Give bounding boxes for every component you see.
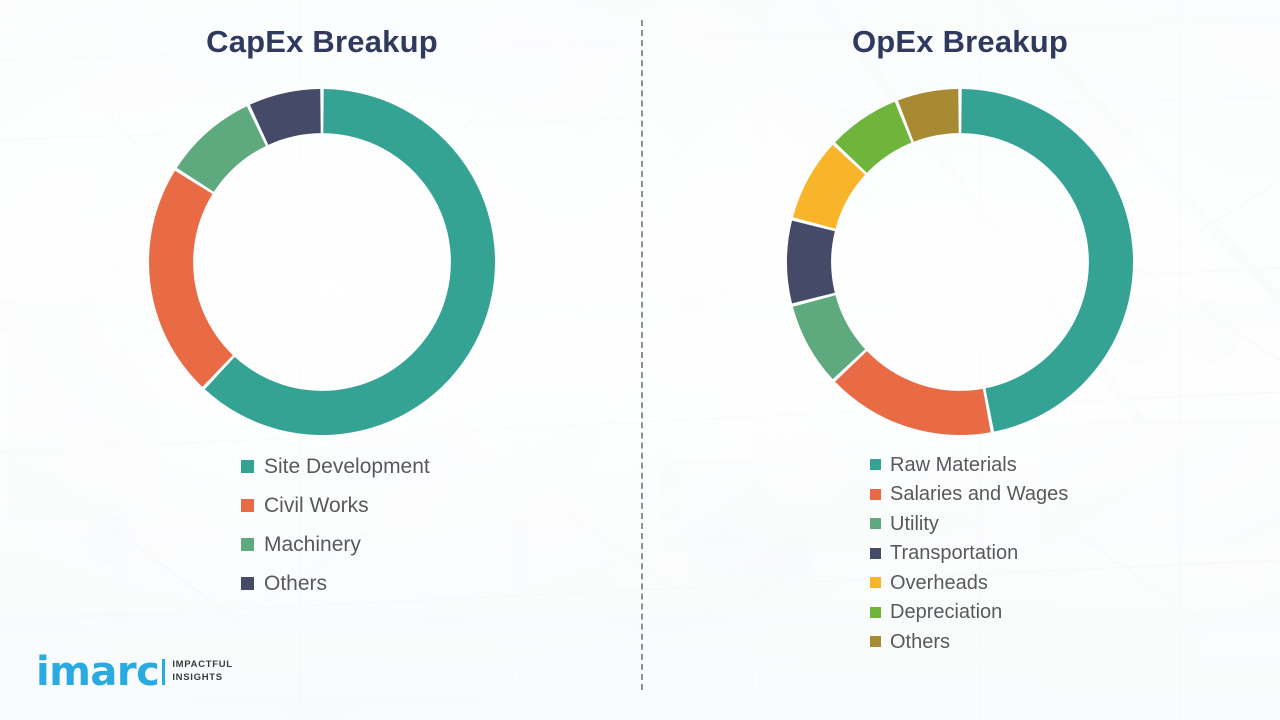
legend-item[interactable]: Machinery [241, 525, 430, 564]
legend-item[interactable]: Overheads [870, 568, 1068, 598]
capex-legend: Site Development Civil Works Machinery O… [241, 447, 430, 603]
legend-label-machinery: Machinery [264, 534, 361, 555]
logo-wordmark: imarc [36, 652, 159, 692]
opex-donut-svg [785, 87, 1135, 437]
legend-item[interactable]: Others [241, 564, 430, 603]
legend-item[interactable]: Utility [870, 509, 1068, 539]
opex-donut-chart [785, 87, 1135, 437]
legend-swatch-others [241, 577, 254, 590]
capex-donut-chart [147, 87, 497, 437]
legend-item[interactable]: Salaries and Wages [870, 480, 1068, 510]
legend-swatch-salaries-and-wages [870, 489, 881, 500]
legend-label-raw-materials: Raw Materials [890, 455, 1017, 475]
legend-item[interactable]: Raw Materials [870, 450, 1068, 480]
legend-item[interactable]: Others [870, 627, 1068, 657]
legend-label-site-development: Site Development [264, 456, 430, 477]
donut-slice[interactable] [961, 89, 1133, 432]
capex-panel: CapEx Breakup Site Development Civil Wor… [0, 0, 640, 720]
logo-tagline: IMPACTFUL INSIGHTS [172, 659, 232, 685]
donut-slice[interactable] [787, 221, 835, 304]
legend-label-overheads: Overheads [890, 573, 988, 593]
legend-label-depreciation: Depreciation [890, 602, 1002, 622]
legend-swatch-overheads [870, 577, 881, 588]
logo-tagline-line2: INSIGHTS [172, 672, 232, 685]
legend-label-utility: Utility [890, 514, 939, 534]
logo-divider-rule [162, 659, 165, 685]
donut-slice[interactable] [149, 171, 233, 387]
capex-donut-svg [147, 87, 497, 437]
legend-swatch-utility [870, 518, 881, 529]
legend-swatch-machinery [241, 538, 254, 551]
donut-slice[interactable] [835, 351, 991, 435]
legend-label-others: Others [264, 573, 327, 594]
imarc-logo: imarc IMPACTFUL INSIGHTS [36, 651, 233, 693]
legend-swatch-others [870, 636, 881, 647]
legend-item[interactable]: Transportation [870, 539, 1068, 569]
legend-label-civil-works: Civil Works [264, 495, 369, 516]
legend-item[interactable]: Depreciation [870, 598, 1068, 628]
opex-legend: Raw Materials Salaries and Wages Utility… [870, 450, 1068, 657]
legend-swatch-depreciation [870, 607, 881, 618]
legend-label-transportation: Transportation [890, 543, 1018, 563]
legend-swatch-site-development [241, 460, 254, 473]
legend-item[interactable]: Civil Works [241, 486, 430, 525]
legend-swatch-transportation [870, 548, 881, 559]
legend-swatch-raw-materials [870, 459, 881, 470]
logo-tagline-line1: IMPACTFUL [172, 659, 232, 672]
opex-title: OpEx Breakup [640, 24, 1280, 60]
legend-label-others: Others [890, 632, 950, 652]
donut-slice[interactable] [177, 106, 266, 192]
legend-label-salaries-and-wages: Salaries and Wages [890, 484, 1068, 504]
legend-swatch-civil-works [241, 499, 254, 512]
legend-item[interactable]: Site Development [241, 447, 430, 486]
opex-panel: OpEx Breakup Raw Materials Salaries and … [640, 0, 1280, 720]
capex-title: CapEx Breakup [2, 24, 642, 60]
